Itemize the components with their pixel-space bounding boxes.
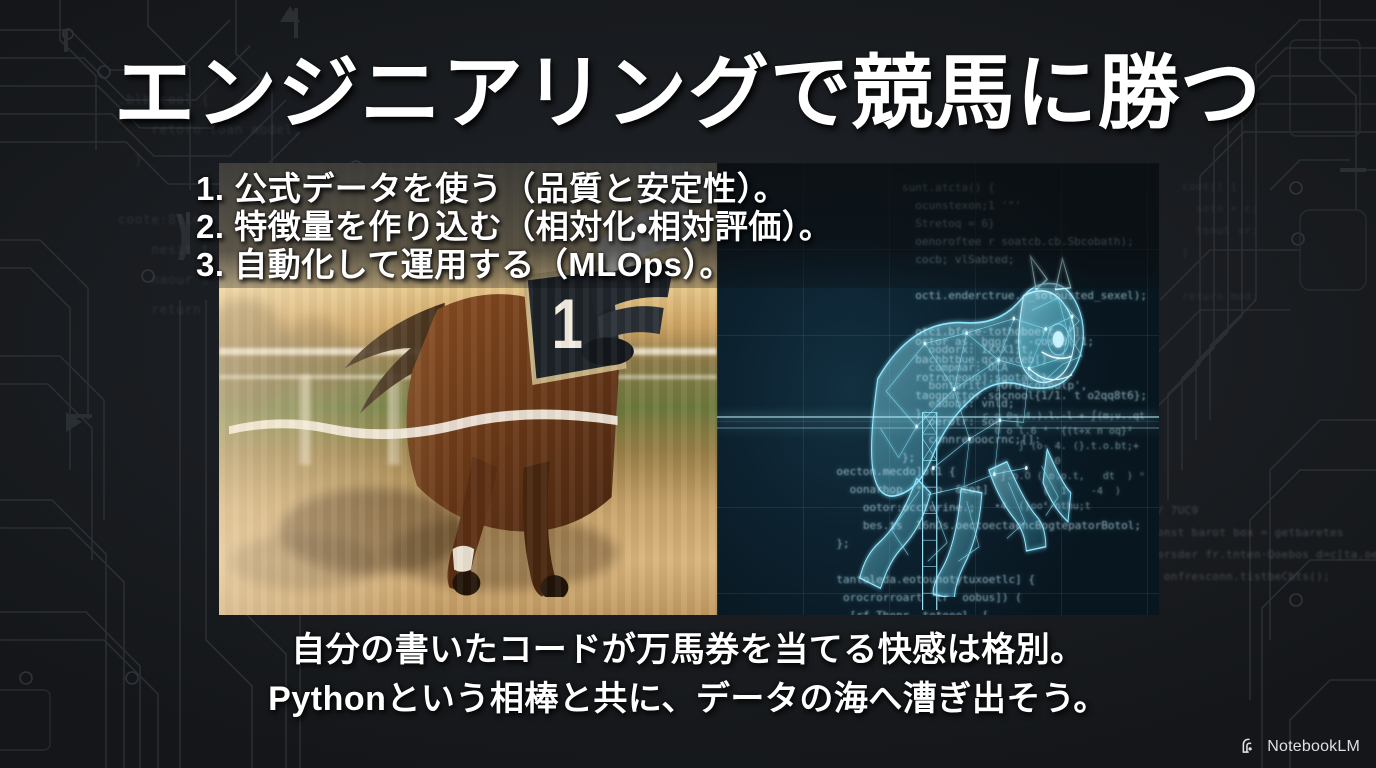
svg-text:1: 1 (551, 286, 582, 364)
rail-post (388, 375, 400, 465)
blurred-tree (219, 299, 289, 409)
bullet-list: 1. 公式データを使う（品質と安定性）。 2. 特徴量を作り込む（相対化・相対評… (196, 170, 832, 284)
dust-cloud (388, 516, 618, 590)
wireframe-math-overlay: c o 0=-4.).l.-l + ∫(m;v..qt 0 o l.6 ⁴ '{… (982, 409, 1145, 514)
bullet-item-3: 3. 自動化して運用する（MLOps）。 (196, 246, 832, 284)
bullet-item-1: 1. 公式データを使う（品質と安定性）。 (196, 170, 832, 208)
dust-cloud (229, 534, 379, 590)
finish-line-ribbon (229, 407, 618, 441)
notebooklm-spiral-icon (1241, 737, 1260, 756)
bullet-item-2: 2. 特徴量を作り込む（相対化・相対評価）。 (196, 208, 832, 246)
slide-canvas: .blb cool { retoro loan model; } coote:8… (0, 0, 1376, 768)
watermark-label: NotebookLM (1267, 738, 1360, 756)
notebooklm-watermark: NotebookLM (1241, 737, 1360, 756)
track-rail (219, 348, 717, 355)
slide-title: エンジニアリングで競馬に勝つ (0, 52, 1376, 137)
rail-post (299, 375, 311, 465)
caption-line-2: Pythonという相棒と共に、データの海へ漕ぎ出そう。 (0, 675, 1376, 724)
blurred-tree (279, 317, 349, 397)
racehorse-photo-silhouette (329, 235, 638, 597)
caption-line-1: 自分の書いたコードが万馬券を当てる快感は格別。 (0, 626, 1376, 675)
rail-post (478, 375, 490, 465)
slide-caption: 自分の書いたコードが万馬券を当てる快感は格別。 Pythonという相棒と共に、デ… (0, 626, 1376, 724)
dust-cloud (279, 488, 469, 574)
track-rail (219, 375, 717, 379)
